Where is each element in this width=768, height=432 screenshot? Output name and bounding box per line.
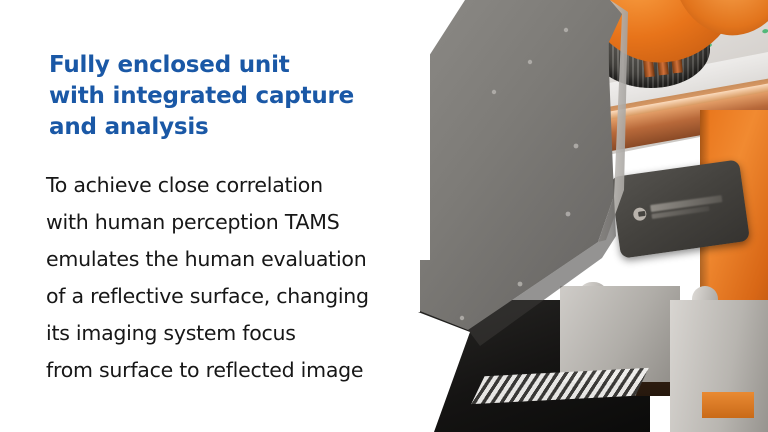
slide: Fully enclosed unit with integrated capt… [0, 0, 768, 432]
render-silhouette-mask [370, 0, 768, 432]
page-title: Fully enclosed unit with integrated capt… [49, 50, 369, 143]
body-line-3: emulates the human evaluation [46, 241, 376, 278]
text-panel: Fully enclosed unit with integrated capt… [0, 0, 380, 432]
body-line-1: To achieve close correlation [46, 167, 376, 204]
body-line-6: from surface to reflected image [46, 352, 376, 389]
headline-line-3: and analysis [49, 112, 369, 143]
product-render [370, 0, 768, 432]
headline-line-1: Fully enclosed unit [49, 50, 369, 81]
headline-line-2: with integrated capture [49, 81, 369, 112]
body-line-4: of a reflective surface, changing [46, 278, 376, 315]
body-copy: To achieve close correlation with human … [46, 167, 376, 389]
body-line-5: its imaging system focus [46, 315, 376, 352]
body-line-2: with human perception TAMS [46, 204, 376, 241]
